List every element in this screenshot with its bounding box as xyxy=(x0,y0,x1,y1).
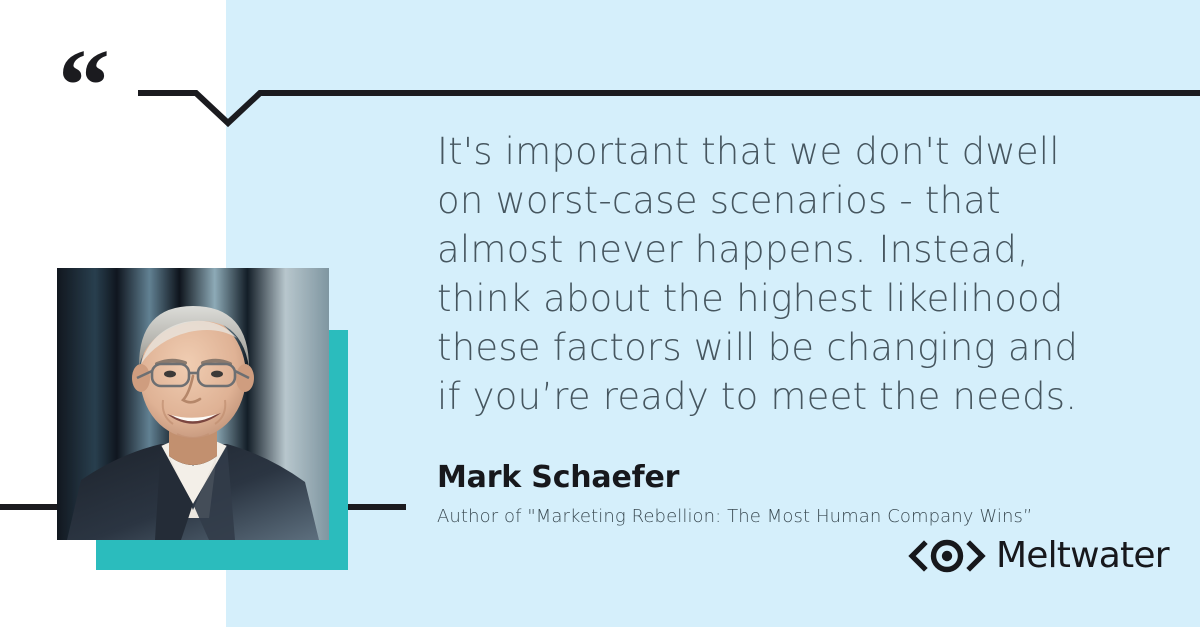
quote-text: It's important that we don't dwell on wo… xyxy=(437,127,1097,421)
opening-quote-glyph: “ xyxy=(58,34,108,138)
attribution-name: Mark Schaefer xyxy=(437,461,679,495)
portrait-photo xyxy=(57,268,329,540)
quote-card: “ xyxy=(0,0,1200,627)
meltwater-wordmark: Meltwater xyxy=(996,538,1169,574)
meltwater-eye-icon xyxy=(908,539,986,573)
rule-segment-right xyxy=(348,504,406,510)
rule-segment-left xyxy=(0,504,57,510)
attribution-title: Author of "Marketing Rebellion: The Most… xyxy=(437,506,1032,528)
meltwater-logo: Meltwater xyxy=(908,536,1169,576)
